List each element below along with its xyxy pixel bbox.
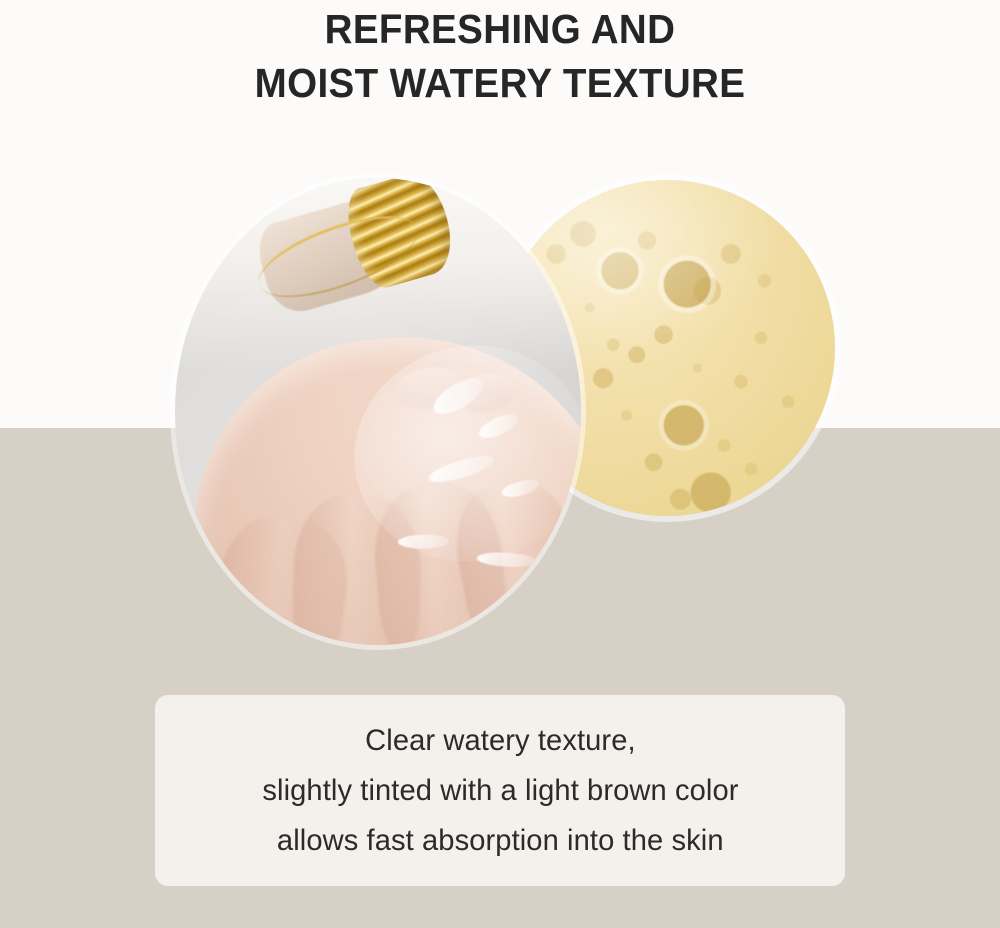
description-line-2: slightly tinted with a light brown color [262, 766, 738, 816]
gel-highlight [476, 410, 522, 443]
gel-highlight [426, 451, 496, 487]
description-line-3: allows fast absorption into the skin [277, 816, 724, 866]
product-detail-page: REFRESHING AND MOIST WATERY TEXTURE [0, 0, 1000, 928]
description-card: Clear watery texture, slightly tinted wi… [155, 695, 845, 886]
description-line-1: Clear watery texture, [365, 716, 636, 766]
hand-gel-circle-image [175, 178, 581, 645]
product-imagery [0, 0, 1000, 700]
